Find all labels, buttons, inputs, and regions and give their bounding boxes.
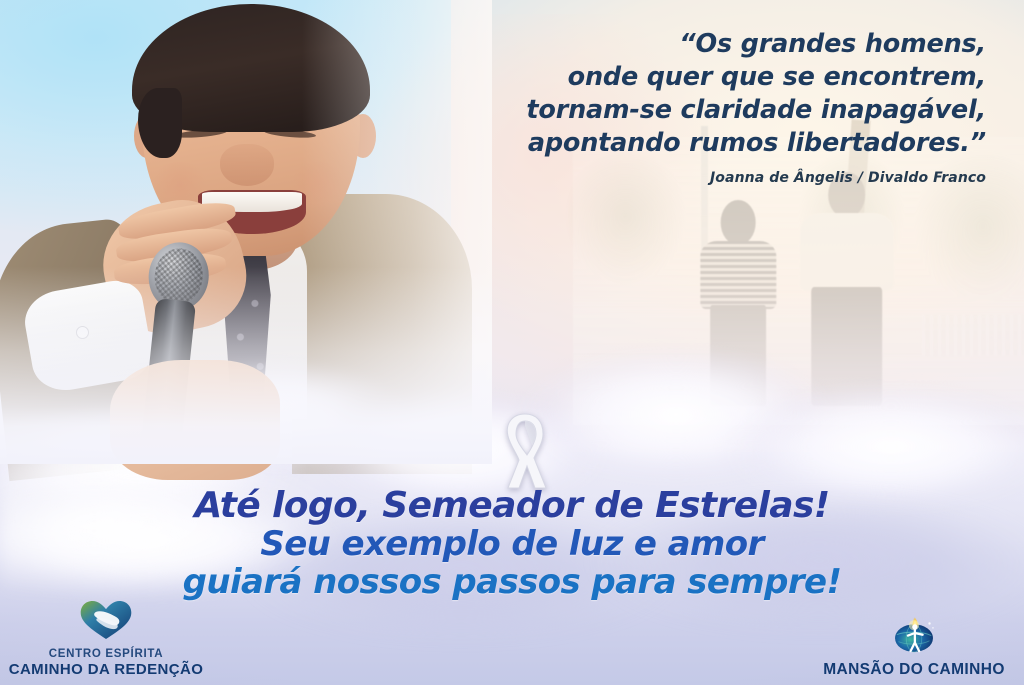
quote-line-1: “Os grandes homens, (426, 28, 986, 61)
quote-line-4: apontando rumos libertadores.” (426, 127, 986, 160)
headline-line-2: Seu exemplo de luz e amor (0, 525, 1024, 563)
memorial-poster: “Os grandes homens, onde quer que se enc… (0, 0, 1024, 685)
portrait-divaldo-franco (0, 0, 492, 464)
quote-attribution: Joanna de Ângelis / Divaldo Franco (426, 170, 986, 186)
portrait-fade-bottom (0, 0, 492, 464)
globe-figure-flame-icon (889, 612, 939, 659)
quote-line-3: tornam-se claridade inapagável, (426, 94, 986, 127)
logo-centro-espirita: CENTRO ESPÍRITA CAMINHO DA REDENÇÃO (8, 599, 204, 679)
headline-block: Até logo, Semeador de Estrelas! Seu exem… (0, 487, 1024, 601)
quote-block: “Os grandes homens, onde quer que se enc… (426, 28, 986, 186)
quote-line-2: onde quer que se encontrem, (426, 61, 986, 94)
logo-left-line-2: CAMINHO DA REDENÇÃO (9, 661, 204, 679)
heart-with-hands-icon (78, 599, 134, 646)
logo-left-line-1: CENTRO ESPÍRITA (49, 648, 163, 662)
logo-right-line-2: MANSÃO DO CAMINHO (823, 661, 1005, 679)
headline-line-3: guiará nossos passos para sempre! (0, 563, 1024, 601)
logo-mansao-do-caminho: MANSÃO DO CAMINHO (814, 612, 1014, 679)
headline-line-1: Até logo, Semeador de Estrelas! (0, 487, 1024, 525)
white-ribbon-icon (486, 408, 564, 494)
